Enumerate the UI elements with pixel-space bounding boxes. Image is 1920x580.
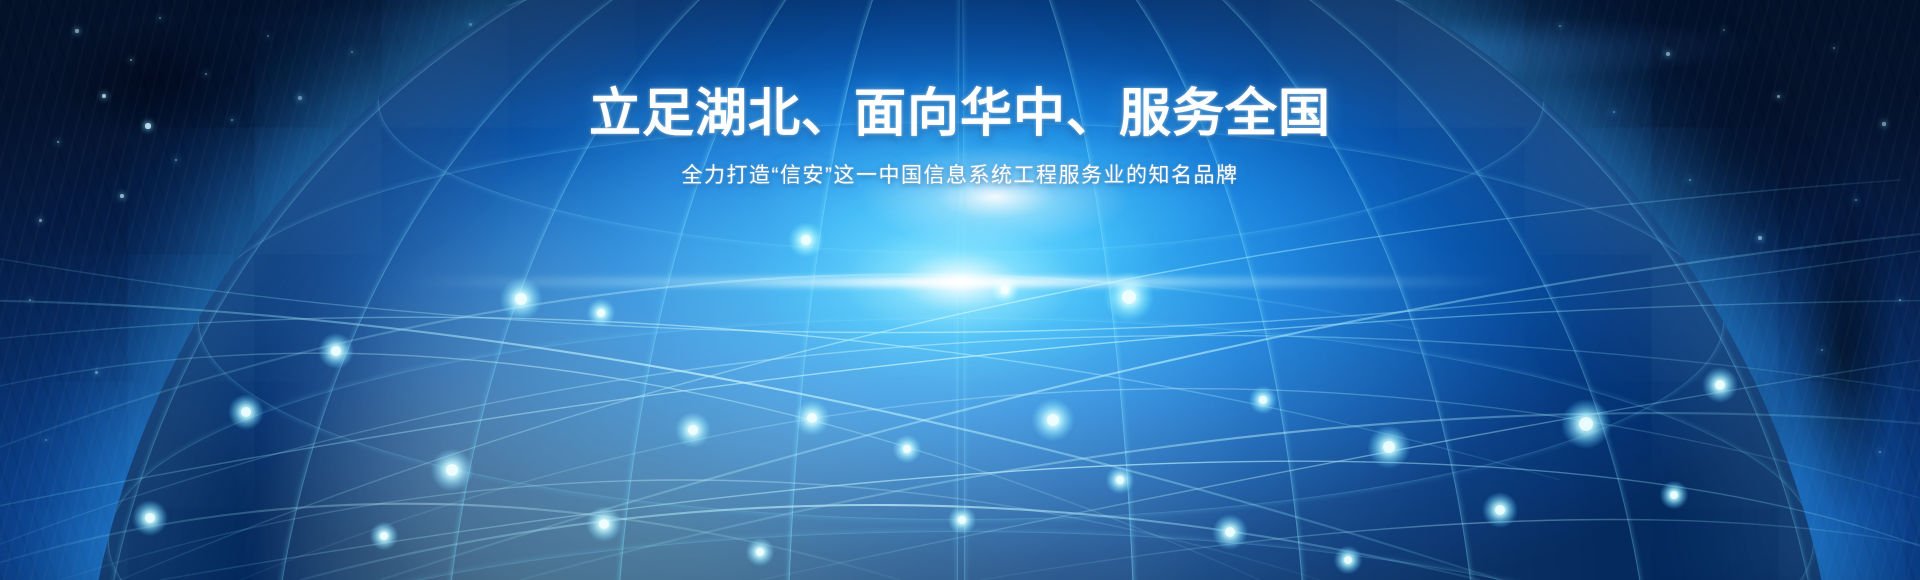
- star-point: [1899, 299, 1902, 302]
- star-point: [351, 51, 353, 53]
- star-point: [1723, 29, 1725, 31]
- star-point: [205, 73, 207, 75]
- star-point: [1666, 52, 1670, 56]
- star-point: [120, 194, 124, 198]
- star-point: [1758, 236, 1762, 240]
- star-point: [1833, 47, 1835, 49]
- star-point: [29, 299, 31, 301]
- star-point: [75, 29, 78, 32]
- star-point: [159, 17, 162, 20]
- banner-text-block: 立足湖北、面向华中、服务全国 全力打造“信安”这一中国信息系统工程服务业的知名品…: [0, 84, 1920, 190]
- hero-banner: 立足湖北、面向华中、服务全国 全力打造“信安”这一中国信息系统工程服务业的知名品…: [0, 0, 1920, 580]
- star-point: [1821, 349, 1823, 351]
- star-point: [95, 371, 98, 374]
- star-point: [45, 439, 47, 441]
- star-point: [267, 35, 269, 37]
- banner-subheadline: 全力打造“信安”这一中国信息系统工程服务业的知名品牌: [0, 162, 1920, 190]
- banner-headline: 立足湖北、面向华中、服务全国: [0, 84, 1920, 144]
- star-point: [39, 219, 42, 222]
- star-point: [1879, 451, 1881, 453]
- star-point: [1559, 25, 1562, 28]
- star-point: [1855, 199, 1857, 201]
- star-point: [130, 59, 132, 61]
